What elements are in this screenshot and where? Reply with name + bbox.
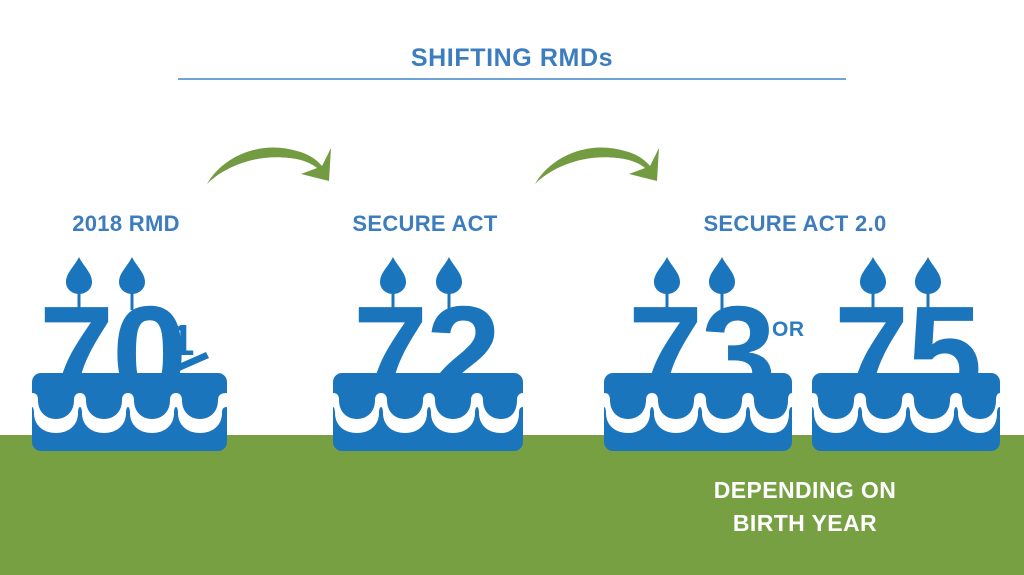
cake-body [812, 373, 1000, 451]
birthday-cake-72: 72 [325, 252, 525, 457]
stage-label-secure-act: SECURE ACT [325, 211, 525, 237]
svg-text:1: 1 [170, 316, 194, 365]
footnote-line-1: DEPENDING ON [620, 474, 990, 507]
birthday-cake-70-half: 70 1 2 [22, 252, 237, 457]
cake-body [604, 373, 792, 451]
birthday-cake-73: 73 [600, 252, 795, 457]
footnote-depending-on-birth-year: DEPENDING ON BIRTH YEAR [620, 474, 990, 540]
stage-label-2018-rmd: 2018 RMD [26, 211, 226, 237]
birthday-cake-75: 75 [808, 252, 1003, 457]
infographic-canvas: SHIFTING RMDs 2018 RMD SECURE ACT SECURE… [0, 0, 1024, 575]
curved-arrow-right-icon-2 [533, 132, 663, 193]
cake-body [333, 373, 523, 451]
stage-label-secure-act-2: SECURE ACT 2.0 [670, 211, 920, 237]
footnote-line-2: BIRTH YEAR [620, 507, 990, 540]
cake-body [32, 373, 227, 451]
title-underline-rule [178, 78, 846, 80]
or-separator-label: OR [772, 318, 805, 342]
page-title: SHIFTING RMDs [0, 44, 1024, 73]
curved-arrow-right-icon-1 [205, 132, 335, 193]
